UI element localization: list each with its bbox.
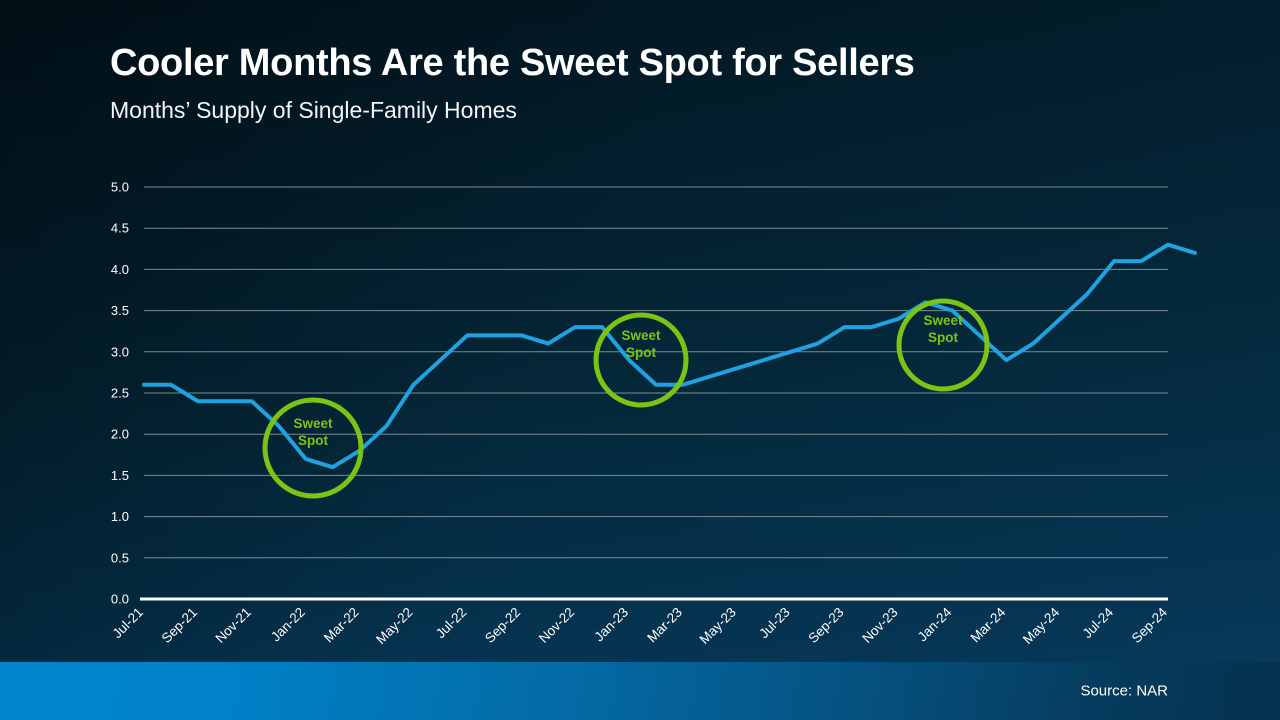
y-axis-tick-label: 1.0 — [111, 509, 129, 524]
x-axis-tick-labels: Jul-21Sep-21Nov-21Jan-22Mar-22May-22Jul-… — [110, 604, 1171, 647]
y-axis-tick-label: 5.0 — [111, 180, 129, 195]
x-axis-tick-label: Nov-23 — [859, 605, 900, 646]
source-label: Source: NAR — [1080, 683, 1168, 700]
sweet-spot-1-label-line2: Spot — [298, 433, 328, 448]
y-axis-tick-label: 0.5 — [111, 550, 129, 565]
x-axis-tick-label: Jul-21 — [110, 605, 147, 642]
sweet-spot-3-label-line1: Sweet — [923, 313, 963, 328]
x-axis-tick-label: Mar-23 — [644, 605, 685, 646]
x-axis-tick-label: May-22 — [373, 605, 415, 647]
x-axis-tick-label: Nov-22 — [536, 605, 577, 646]
sweet-spot-1-circle — [265, 400, 361, 496]
y-axis-tick-label: 4.0 — [111, 262, 129, 277]
y-axis-tick-label: 2.0 — [111, 427, 129, 442]
y-axis-tick-label: 3.5 — [111, 303, 129, 318]
sweet-spot-2-label-line2: Spot — [626, 345, 656, 360]
y-axis-tick-label: 4.5 — [111, 221, 129, 236]
sweet-spot-1-label-line1: Sweet — [293, 416, 333, 431]
x-axis-tick-label: Sep-22 — [482, 605, 523, 646]
chart-gridlines — [144, 187, 1168, 558]
y-axis-tick-label: 1.5 — [111, 468, 129, 483]
y-axis-tick-labels: 0.00.51.01.52.02.53.03.54.04.55.0 — [111, 180, 129, 607]
x-axis-tick-label: Mar-22 — [321, 605, 362, 646]
x-axis-tick-label: Mar-24 — [968, 604, 1009, 645]
x-axis-tick-label: Jan-24 — [915, 604, 955, 644]
x-axis-tick-label: Jan-23 — [591, 605, 631, 645]
y-axis-tick-label: 0.0 — [111, 592, 129, 607]
x-axis-tick-label: Jan-22 — [268, 605, 308, 645]
y-axis-tick-label: 3.0 — [111, 344, 129, 359]
footer-bar: Source: NAR — [0, 662, 1280, 720]
sweet-spot-2-label-line1: Sweet — [621, 328, 661, 343]
x-axis-tick-label: May-23 — [697, 605, 739, 647]
x-axis-tick-label: Jul-22 — [433, 605, 470, 642]
chart-container: 0.00.51.01.52.02.53.03.54.04.55.0 Jul-21… — [0, 0, 1280, 720]
x-axis-tick-label: Sep-23 — [805, 605, 846, 646]
x-axis-tick-label: Sep-24 — [1129, 604, 1171, 646]
x-axis-tick-label: Jul-23 — [756, 605, 793, 642]
sweet-spot-3-label-line2: Spot — [928, 330, 958, 345]
x-axis-tick-label: Jul-24 — [1080, 604, 1117, 641]
chart-annotations-group: SweetSpotSweetSpotSweetSpot — [265, 301, 987, 496]
y-axis-tick-label: 2.5 — [111, 386, 129, 401]
slide-root: Cooler Months Are the Sweet Spot for Sel… — [0, 0, 1280, 720]
x-axis-tick-label: Nov-21 — [213, 605, 254, 646]
x-axis-tick-label: Sep-21 — [159, 605, 200, 646]
line-chart: 0.00.51.01.52.02.53.03.54.04.55.0 Jul-21… — [0, 0, 1280, 720]
x-axis-tick-label: May-24 — [1020, 604, 1063, 647]
